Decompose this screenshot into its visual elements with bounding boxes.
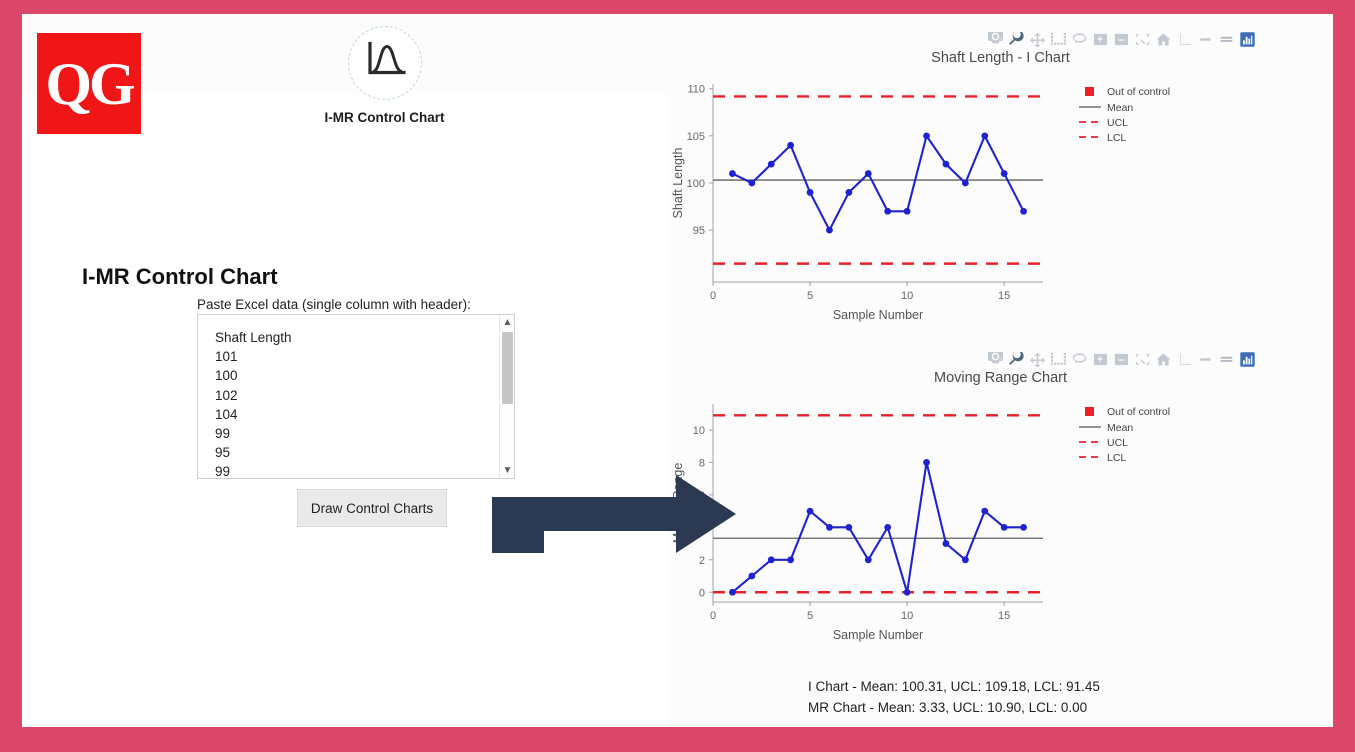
- paste-data-textarea[interactable]: [197, 314, 515, 479]
- svg-text:0: 0: [710, 290, 716, 302]
- box-select-icon[interactable]: [1051, 352, 1066, 367]
- summary-i-chart: I Chart - Mean: 100.31, UCL: 109.18, LCL…: [808, 676, 1100, 697]
- app-caption: I-MR Control Chart: [302, 110, 467, 125]
- home-icon[interactable]: [1156, 32, 1171, 47]
- summary-block: I Chart - Mean: 100.31, UCL: 109.18, LCL…: [808, 676, 1100, 718]
- svg-text:15: 15: [998, 610, 1010, 622]
- pan-icon[interactable]: [1030, 352, 1045, 367]
- lasso-select-icon[interactable]: [1072, 352, 1087, 367]
- scroll-up-arrow-icon[interactable]: ▲: [500, 315, 515, 330]
- svg-text:LCL: LCL: [1107, 452, 1126, 464]
- svg-text:Sample Number: Sample Number: [833, 628, 923, 642]
- home-icon[interactable]: [1156, 352, 1171, 367]
- scrollbar-thumb[interactable]: [502, 332, 513, 404]
- svg-text:0: 0: [710, 610, 716, 622]
- spike-lines-icon[interactable]: [1177, 32, 1192, 47]
- brand-circle: [348, 26, 422, 100]
- mr-chart-title: Moving Range Chart: [668, 370, 1333, 386]
- svg-text:Out of control: Out of control: [1107, 86, 1170, 98]
- plotly-logo-icon[interactable]: [1240, 32, 1255, 47]
- charts-output-pane: Shaft Length - I Chart 95100105110051015…: [668, 14, 1333, 727]
- zoom-in-icon[interactable]: [1093, 32, 1108, 47]
- hover-compare-icon[interactable]: [1219, 32, 1234, 47]
- hover-closest-icon[interactable]: [1198, 32, 1213, 47]
- i-chart-title: Shaft Length - I Chart: [668, 50, 1333, 66]
- hover-closest-icon[interactable]: [1198, 352, 1213, 367]
- paste-data-label: Paste Excel data (single column with hea…: [197, 297, 471, 312]
- pan-icon[interactable]: [1030, 32, 1045, 47]
- mr-chart-modebar[interactable]: [988, 352, 1255, 367]
- svg-text:Shaft Length: Shaft Length: [671, 148, 685, 219]
- mr-chart-plot[interactable]: 0246810051015Moving RangeSample NumberOu…: [668, 394, 1333, 644]
- i-chart-modebar[interactable]: [988, 32, 1255, 47]
- lasso-select-icon[interactable]: [1072, 32, 1087, 47]
- qg-logo: QG: [37, 33, 141, 134]
- zoom-icon[interactable]: [1009, 352, 1024, 367]
- autoscale-icon[interactable]: [1135, 32, 1150, 47]
- i-chart-card: Shaft Length - I Chart 95100105110051015…: [668, 32, 1333, 324]
- textarea-scrollbar[interactable]: ▲ ▼: [499, 315, 514, 478]
- spike-lines-icon[interactable]: [1177, 352, 1192, 367]
- svg-text:5: 5: [807, 610, 813, 622]
- svg-text:15: 15: [998, 290, 1010, 302]
- svg-text:105: 105: [687, 131, 705, 143]
- page-title: I-MR Control Chart: [82, 264, 278, 290]
- page-frame: QG I-MR Control Chart I-MR Control Chart…: [0, 0, 1355, 752]
- svg-text:UCL: UCL: [1107, 117, 1128, 129]
- svg-text:10: 10: [693, 425, 705, 437]
- svg-text:0: 0: [699, 587, 705, 599]
- svg-text:Out of control: Out of control: [1107, 406, 1170, 418]
- svg-text:8: 8: [699, 457, 705, 469]
- i-chart-plot[interactable]: 95100105110051015Shaft LengthSample Numb…: [668, 74, 1333, 324]
- zoom-in-icon[interactable]: [1093, 352, 1108, 367]
- camera-icon[interactable]: [988, 32, 1003, 47]
- qg-logo-text: QG: [45, 54, 132, 114]
- svg-text:Mean: Mean: [1107, 102, 1133, 114]
- svg-text:Mean: Mean: [1107, 422, 1133, 434]
- plotly-logo-icon[interactable]: [1240, 352, 1255, 367]
- mr-chart-card: Moving Range Chart 0246810051015Moving R…: [668, 352, 1333, 644]
- svg-text:100: 100: [687, 178, 705, 190]
- zoom-icon[interactable]: [1009, 32, 1024, 47]
- paste-data-wrapper: ▲ ▼: [197, 314, 515, 479]
- svg-text:95: 95: [693, 225, 705, 237]
- summary-mr-chart: MR Chart - Mean: 3.33, UCL: 10.90, LCL: …: [808, 697, 1100, 718]
- camera-icon[interactable]: [988, 352, 1003, 367]
- browser-page: QG I-MR Control Chart I-MR Control Chart…: [22, 14, 1333, 727]
- hover-compare-icon[interactable]: [1219, 352, 1234, 367]
- svg-text:Sample Number: Sample Number: [833, 308, 923, 322]
- autoscale-icon[interactable]: [1135, 352, 1150, 367]
- brand-block: I-MR Control Chart: [302, 26, 467, 125]
- zoom-out-icon[interactable]: [1114, 32, 1129, 47]
- draw-control-charts-button[interactable]: Draw Control Charts: [297, 489, 447, 527]
- box-select-icon[interactable]: [1051, 32, 1066, 47]
- app-input-pane: QG I-MR Control Chart I-MR Control Chart…: [22, 14, 668, 727]
- svg-text:LCL: LCL: [1107, 132, 1126, 144]
- zoom-out-icon[interactable]: [1114, 352, 1129, 367]
- svg-text:10: 10: [901, 290, 913, 302]
- svg-text:5: 5: [807, 290, 813, 302]
- svg-text:110: 110: [687, 84, 705, 96]
- svg-text:UCL: UCL: [1107, 437, 1128, 449]
- axis-bell-curve-icon: [363, 41, 407, 86]
- process-arrow-graphic: [470, 469, 760, 559]
- svg-text:10: 10: [901, 610, 913, 622]
